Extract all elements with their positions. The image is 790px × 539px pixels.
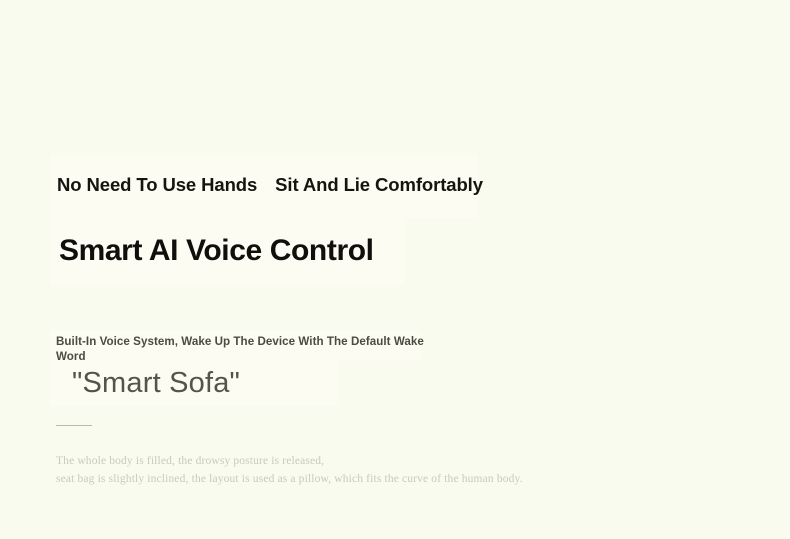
product-feature-page: No Need To Use Hands Sit And Lie Comfort… bbox=[0, 0, 790, 539]
footnote-line-2: seat bag is slightly inclined, the layou… bbox=[56, 470, 676, 488]
voice-description-line-1: Built-In Voice System, Wake Up The Devic… bbox=[56, 335, 348, 348]
wake-word-value: "Smart Sofa" bbox=[72, 368, 240, 400]
kicker-no-need-to-use-hands: No Need To Use Hands bbox=[57, 176, 257, 195]
footnote-text: The whole body is filled, the drowsy pos… bbox=[56, 452, 676, 488]
voice-system-description: Built-In Voice System, Wake Up The Devic… bbox=[56, 334, 456, 364]
section-divider bbox=[56, 425, 92, 426]
page-title: Smart AI Voice Control bbox=[59, 235, 374, 267]
kicker-sit-and-lie-comfortably: Sit And Lie Comfortably bbox=[275, 176, 483, 195]
footnote-line-1: The whole body is filled, the drowsy pos… bbox=[56, 452, 676, 470]
feature-kicker-row: No Need To Use Hands Sit And Lie Comfort… bbox=[57, 176, 483, 195]
